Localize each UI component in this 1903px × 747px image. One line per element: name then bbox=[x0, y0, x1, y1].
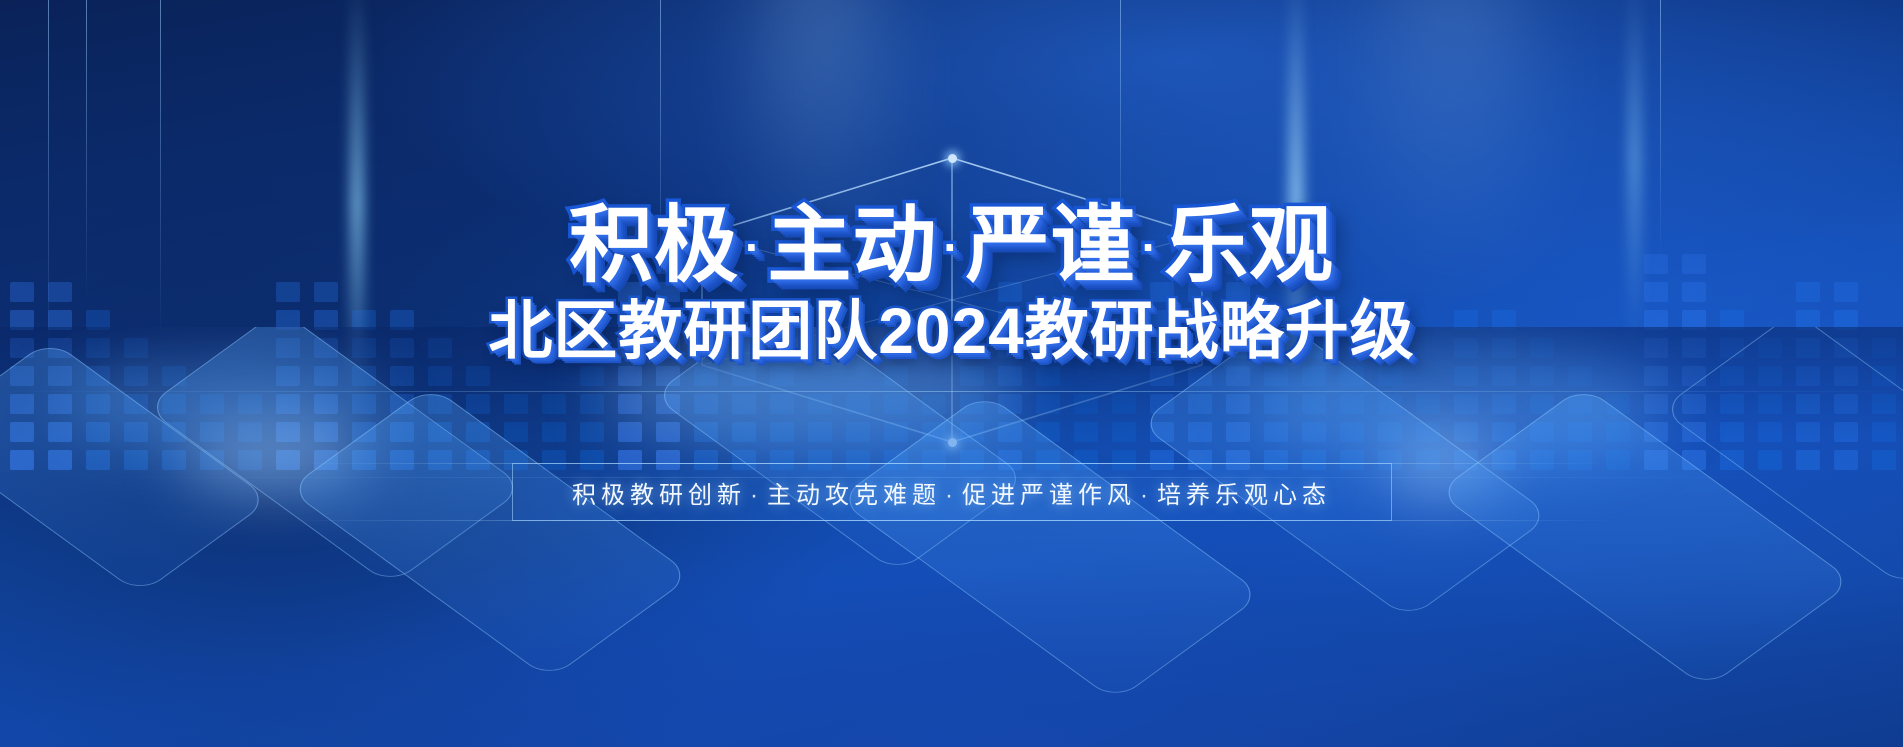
tagline-item-1: 积极教研创新 bbox=[572, 482, 746, 509]
title-separator: · bbox=[937, 221, 965, 273]
title-word-3: 严谨 bbox=[966, 198, 1136, 292]
tagline-separator: · bbox=[941, 482, 962, 509]
banner-content: 积极·主动·严谨·乐观 北区教研团队2024教研战略升级 积极教研创新·主动攻克… bbox=[0, 0, 1903, 747]
title-word-2: 主动 bbox=[767, 198, 937, 292]
tagline-separator: · bbox=[1136, 482, 1157, 509]
page-subtitle: 北区教研团队2024教研战略升级 bbox=[0, 280, 1903, 372]
tagline-item-4: 培养乐观心态 bbox=[1157, 482, 1331, 509]
tagline-item-2: 主动攻克难题 bbox=[767, 482, 941, 509]
tagline-separator: · bbox=[746, 482, 767, 509]
title-separator: · bbox=[739, 221, 767, 273]
event-banner: 积极·主动·严谨·乐观 北区教研团队2024教研战略升级 积极教研创新·主动攻克… bbox=[0, 0, 1903, 747]
tagline-text: 积极教研创新·主动攻克难题·促进严谨作风·培养乐观心态 bbox=[572, 475, 1331, 510]
title-separator: · bbox=[1136, 221, 1164, 273]
tagline-bar: 积极教研创新·主动攻克难题·促进严谨作风·培养乐观心态 bbox=[512, 463, 1392, 521]
title-word-1: 积极 bbox=[569, 198, 739, 292]
tagline-item-3: 促进严谨作风 bbox=[962, 482, 1136, 509]
title-word-4: 乐观 bbox=[1164, 198, 1334, 292]
